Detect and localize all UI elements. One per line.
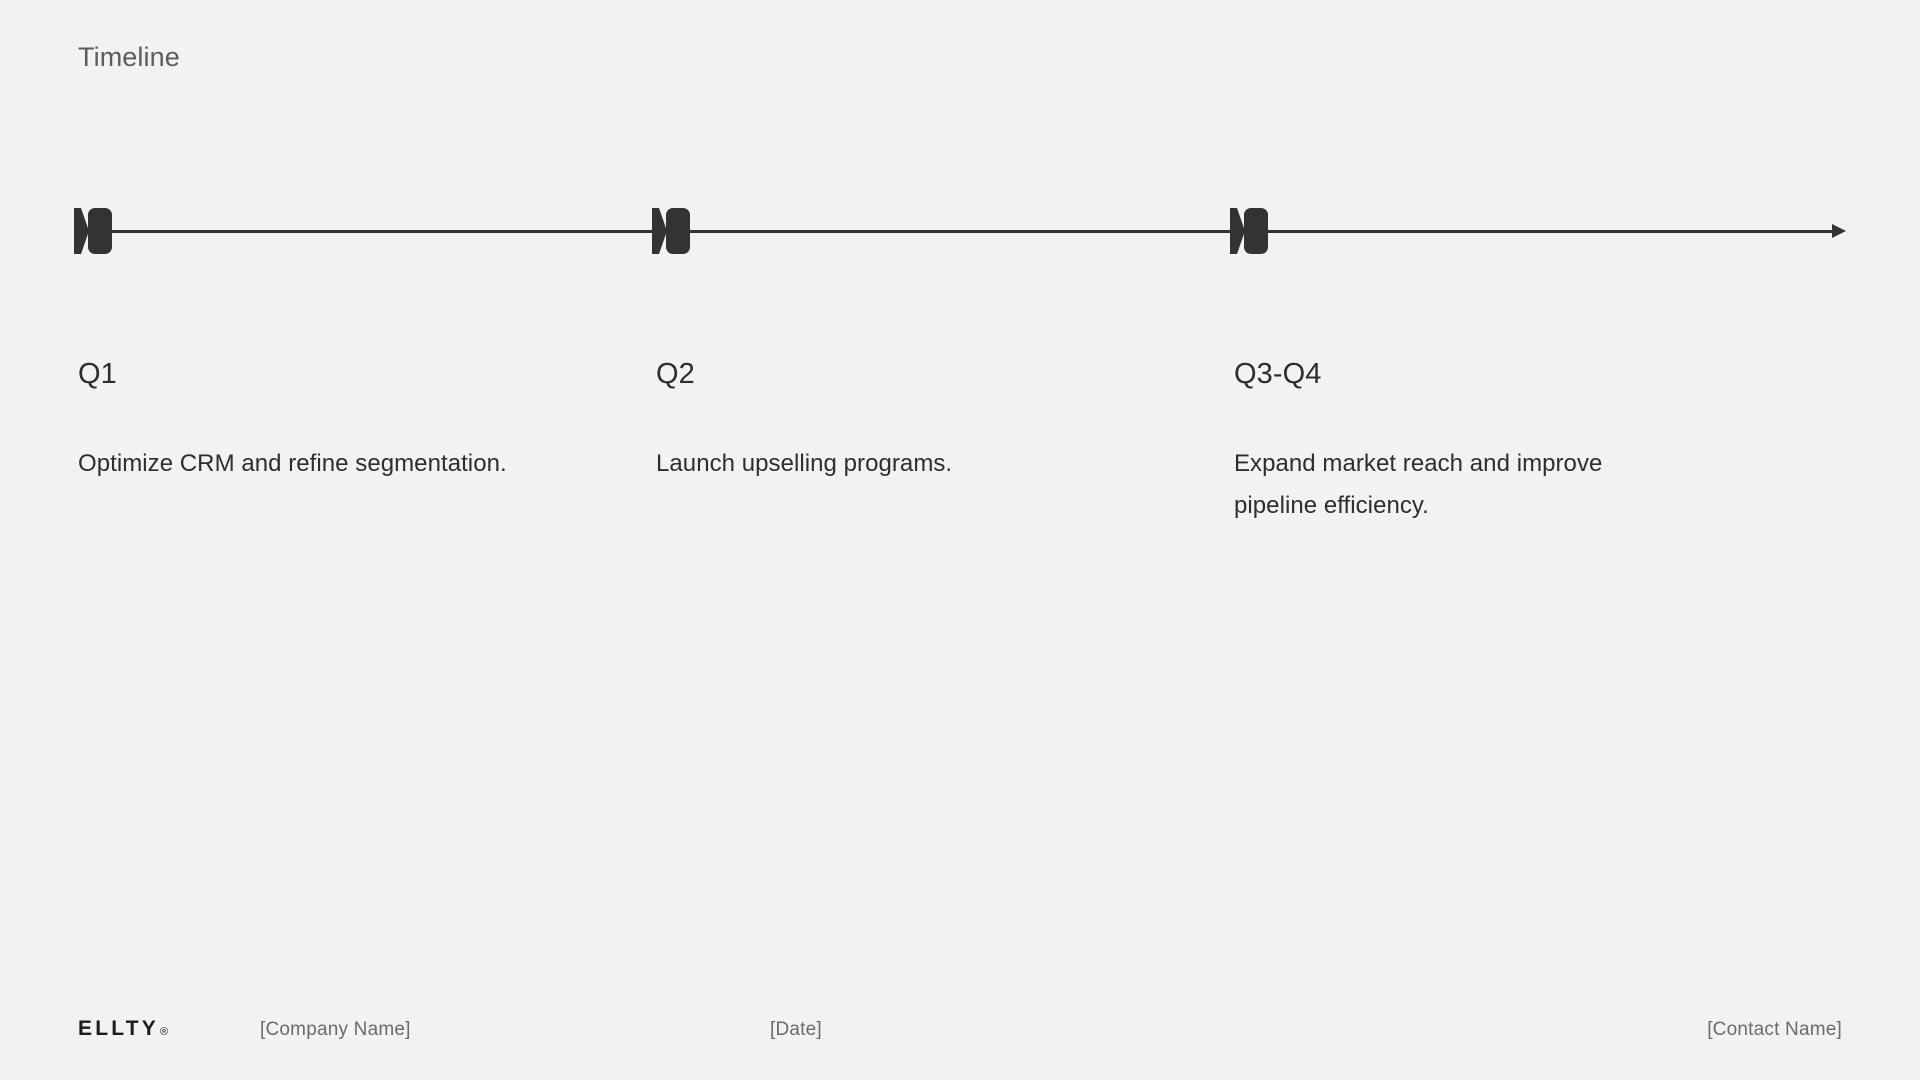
logo-wordmark: ELLTY [78, 1018, 159, 1039]
footer-company-name[interactable]: [Company Name] [260, 1019, 411, 1041]
registered-trademark-icon: ® [160, 1027, 168, 1038]
milestone-column-q1: Q1 Optimize CRM and refine segmentation. [78, 358, 508, 485]
milestone-marker-q2[interactable] [650, 206, 692, 256]
footer-contact-name[interactable]: [Contact Name] [1707, 1019, 1842, 1041]
timeline-axis-line [78, 230, 1840, 233]
milestone-description: Optimize CRM and refine segmentation. [78, 443, 508, 485]
milestone-column-q2: Q2 Launch upselling programs. [656, 358, 1086, 485]
milestone-description: Launch upselling programs. [656, 443, 1086, 485]
milestone-marker-q1[interactable] [72, 206, 114, 256]
timeline-axis [78, 230, 1846, 234]
arrow-right-icon [1832, 224, 1846, 238]
footer: ELLTY ® [Company Name] [Date] [Contact N… [0, 1012, 1920, 1060]
milestone-heading: Q3-Q4 [1234, 358, 1664, 391]
milestone-marker-q3q4[interactable] [1228, 206, 1270, 256]
footer-date[interactable]: [Date] [770, 1019, 822, 1041]
page-title: Timeline [78, 42, 180, 73]
ellty-logo: ELLTY ® [78, 1018, 168, 1039]
milestone-heading: Q2 [656, 358, 1086, 391]
milestone-column-q3q4: Q3-Q4 Expand market reach and improve pi… [1234, 358, 1664, 527]
milestone-heading: Q1 [78, 358, 508, 391]
milestone-description: Expand market reach and improve pipeline… [1234, 443, 1664, 527]
